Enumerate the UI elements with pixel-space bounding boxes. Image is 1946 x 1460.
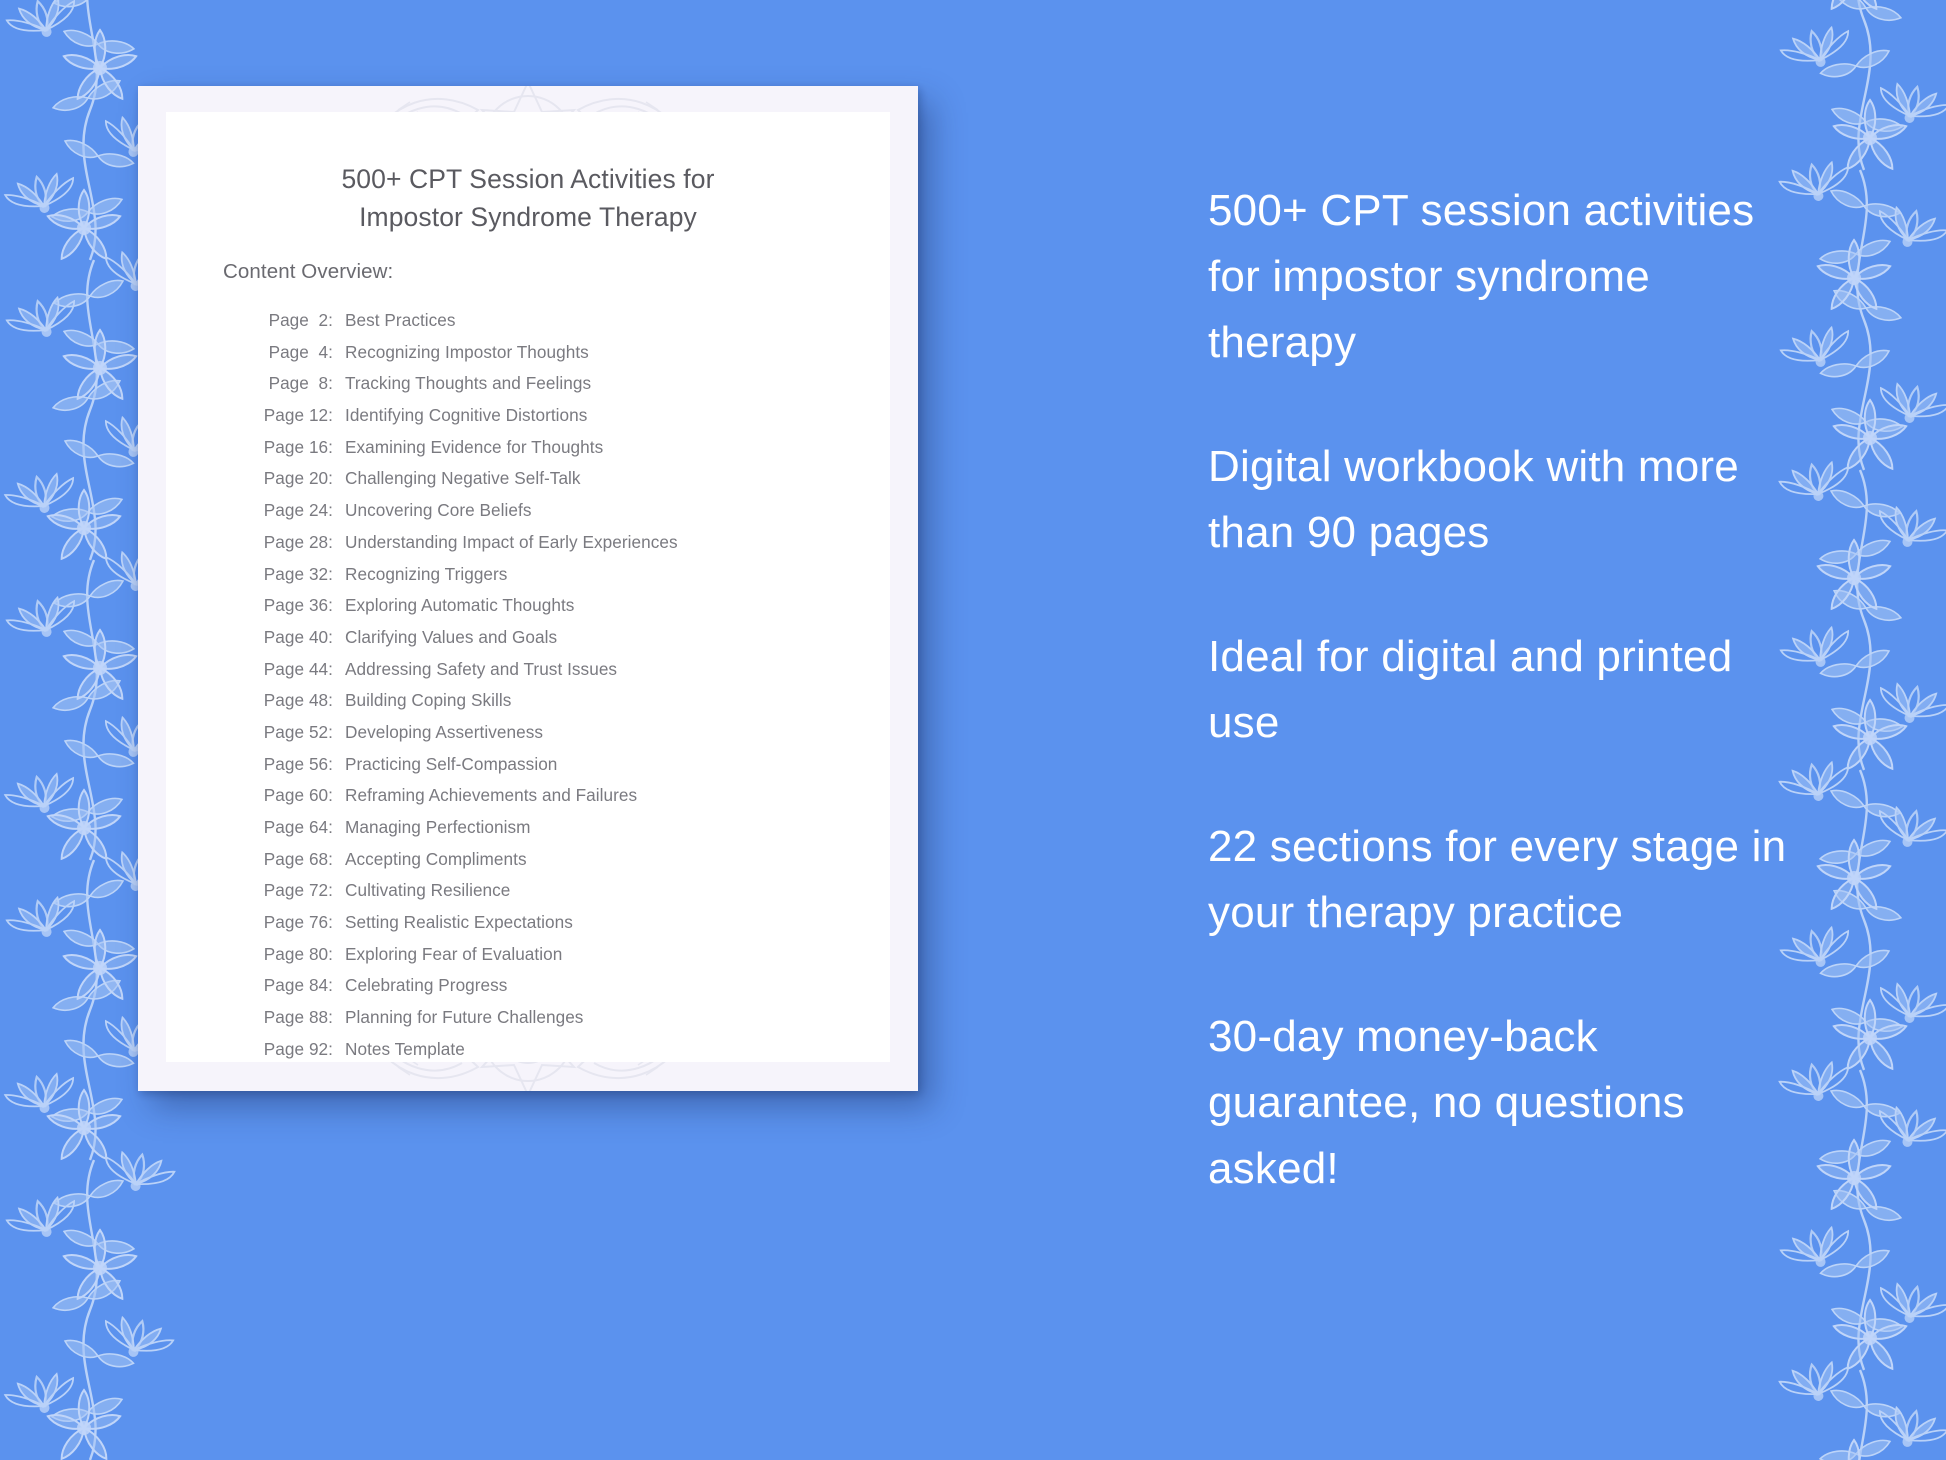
toc-page-number: Page 80: — [247, 944, 333, 965]
toc-row: Page 84:Celebrating Progress — [247, 975, 870, 1007]
toc-section-title: Identifying Cognitive Distortions — [333, 405, 587, 426]
toc-row: Page 20:Challenging Negative Self-Talk — [247, 468, 870, 500]
marketing-copy-panel: 500+ CPT session activities for impostor… — [1208, 178, 1788, 1202]
toc-page-number: Page 52: — [247, 722, 333, 743]
toc-section-title: Tracking Thoughts and Feelings — [333, 373, 591, 394]
toc-section-title: Exploring Automatic Thoughts — [333, 595, 574, 616]
toc-page-number: Page 64: — [247, 817, 333, 838]
toc-page-number: Page 2: — [247, 310, 333, 331]
toc-page-number: Page 48: — [247, 690, 333, 711]
toc-page-number: Page 44: — [247, 659, 333, 680]
toc-section-title: Challenging Negative Self-Talk — [333, 468, 581, 489]
toc-section-title: Best Practices — [333, 310, 456, 331]
toc-page-number: Page 12: — [247, 405, 333, 426]
toc-row: Page 2:Best Practices — [247, 310, 870, 342]
toc-section-title: Practicing Self-Compassion — [333, 754, 557, 775]
document-page: 500+ CPT Session Activities for Impostor… — [166, 112, 890, 1062]
toc-page-number: Page 36: — [247, 595, 333, 616]
toc-page-number: Page 88: — [247, 1007, 333, 1028]
marketing-bullet: 22 sections for every stage in your ther… — [1208, 814, 1788, 946]
toc-row: Page 68:Accepting Compliments — [247, 849, 870, 881]
marketing-bullet: Ideal for digital and printed use — [1208, 624, 1788, 756]
toc-section-title: Clarifying Values and Goals — [333, 627, 557, 648]
toc-section-title: Understanding Impact of Early Experience… — [333, 532, 678, 553]
marketing-bullet: 30-day money-back guarantee, no question… — [1208, 1004, 1788, 1202]
toc-page-number: Page 40: — [247, 627, 333, 648]
toc-page-number: Page 8: — [247, 373, 333, 394]
toc-page-number: Page 72: — [247, 880, 333, 901]
toc-page-number: Page 16: — [247, 437, 333, 458]
toc-section-title: Managing Perfectionism — [333, 817, 530, 838]
toc-row: Page 88:Planning for Future Challenges — [247, 1007, 870, 1039]
toc-row: Page 64:Managing Perfectionism — [247, 817, 870, 849]
toc-row: Page 28:Understanding Impact of Early Ex… — [247, 532, 870, 564]
document-preview-card: 500+ CPT Session Activities for Impostor… — [138, 86, 918, 1091]
toc-row: Page 16:Examining Evidence for Thoughts — [247, 437, 870, 469]
toc-row: Page 44:Addressing Safety and Trust Issu… — [247, 659, 870, 691]
toc-row: Page 40:Clarifying Values and Goals — [247, 627, 870, 659]
toc-section-title: Addressing Safety and Trust Issues — [333, 659, 617, 680]
document-title: 500+ CPT Session Activities for Impostor… — [166, 160, 890, 236]
toc-section-title: Cultivating Resilience — [333, 880, 510, 901]
content-overview-label: Content Overview: — [223, 260, 393, 284]
toc-row: Page 92:Notes Template — [247, 1039, 870, 1071]
toc-section-title: Celebrating Progress — [333, 975, 507, 996]
toc-section-title: Reframing Achievements and Failures — [333, 785, 637, 806]
toc-row: Page 52:Developing Assertiveness — [247, 722, 870, 754]
toc-section-title: Recognizing Triggers — [333, 564, 507, 585]
toc-row: Page 56:Practicing Self-Compassion — [247, 754, 870, 786]
toc-row: Page 80:Exploring Fear of Evaluation — [247, 944, 870, 976]
toc-page-number: Page 32: — [247, 564, 333, 585]
toc-page-number: Page 20: — [247, 468, 333, 489]
marketing-bullet: Digital workbook with more than 90 pages — [1208, 434, 1788, 566]
toc-row: Page 24:Uncovering Core Beliefs — [247, 500, 870, 532]
toc-section-title: Developing Assertiveness — [333, 722, 543, 743]
toc-page-number: Page 24: — [247, 500, 333, 521]
marketing-bullet: 500+ CPT session activities for impostor… — [1208, 178, 1788, 376]
toc-row: Page 72:Cultivating Resilience — [247, 880, 870, 912]
toc-page-number: Page 28: — [247, 532, 333, 553]
toc-section-title: Notes Template — [333, 1039, 465, 1060]
toc-section-title: Planning for Future Challenges — [333, 1007, 583, 1028]
toc-row: Page 48:Building Coping Skills — [247, 690, 870, 722]
toc-row: Page 32:Recognizing Triggers — [247, 564, 870, 596]
toc-row: Page 36:Exploring Automatic Thoughts — [247, 595, 870, 627]
toc-row: Page 76:Setting Realistic Expectations — [247, 912, 870, 944]
toc-section-title: Uncovering Core Beliefs — [333, 500, 531, 521]
toc-row: Page 8:Tracking Thoughts and Feelings — [247, 373, 870, 405]
toc-row: Page 60:Reframing Achievements and Failu… — [247, 785, 870, 817]
toc-section-title: Recognizing Impostor Thoughts — [333, 342, 589, 363]
toc-section-title: Examining Evidence for Thoughts — [333, 437, 603, 458]
toc-page-number: Page 60: — [247, 785, 333, 806]
toc-page-number: Page 92: — [247, 1039, 333, 1060]
toc-page-number: Page 84: — [247, 975, 333, 996]
toc-section-title: Accepting Compliments — [333, 849, 527, 870]
toc-page-number: Page 4: — [247, 342, 333, 363]
toc-section-title: Setting Realistic Expectations — [333, 912, 573, 933]
toc-row: Page 4:Recognizing Impostor Thoughts — [247, 342, 870, 374]
promotional-listing-image: 500+ CPT Session Activities for Impostor… — [0, 0, 1946, 1460]
toc-page-number: Page 56: — [247, 754, 333, 775]
toc-row: Page 12:Identifying Cognitive Distortion… — [247, 405, 870, 437]
toc-section-title: Exploring Fear of Evaluation — [333, 944, 562, 965]
table-of-contents: Page 2:Best PracticesPage 4:Recognizing … — [247, 310, 870, 1071]
toc-page-number: Page 76: — [247, 912, 333, 933]
toc-page-number: Page 68: — [247, 849, 333, 870]
toc-section-title: Building Coping Skills — [333, 690, 511, 711]
